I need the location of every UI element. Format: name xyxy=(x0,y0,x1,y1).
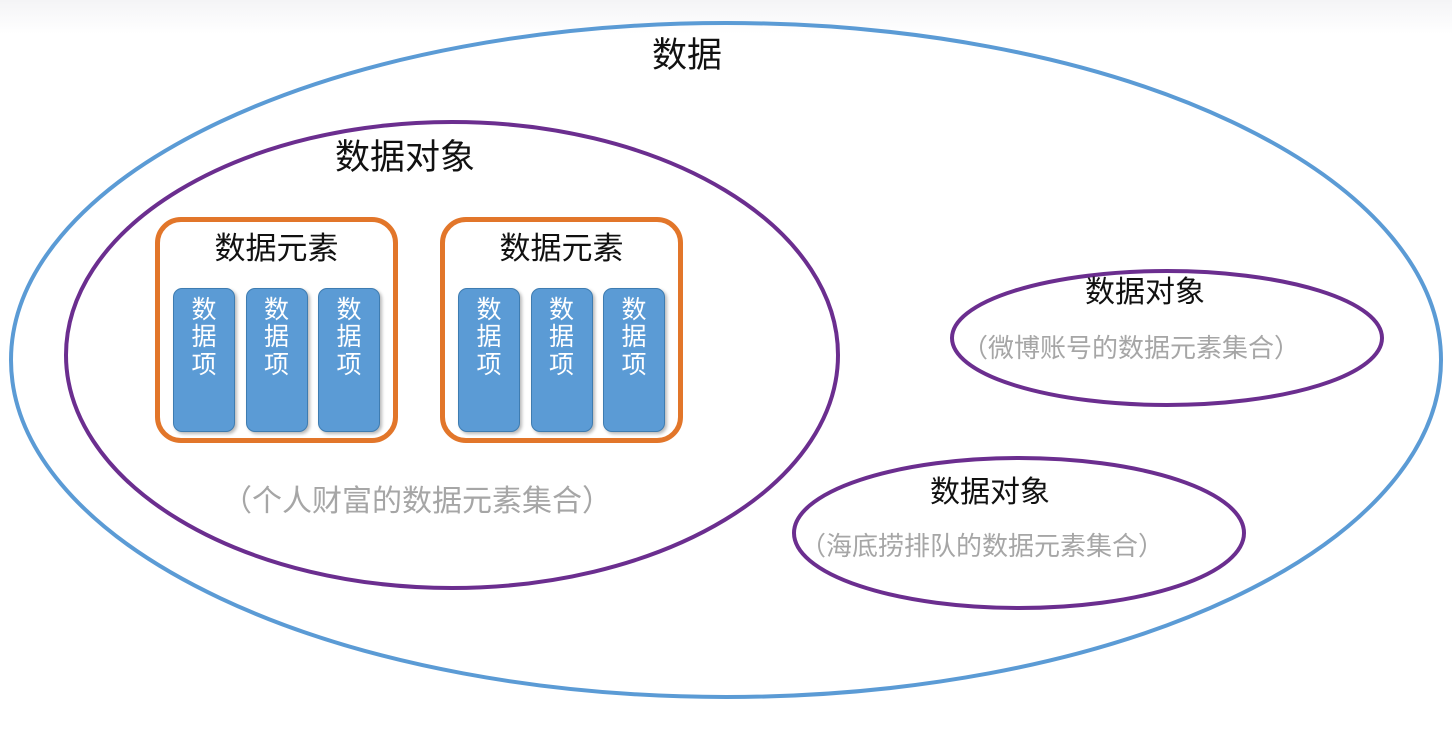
data-item-char: 数 xyxy=(174,297,234,324)
data-item-char: 据 xyxy=(319,324,379,351)
outer-ellipse-label: 数据 xyxy=(652,38,722,73)
data-item-char: 项 xyxy=(174,352,234,379)
data-object-sublabel-weibo: （微博账号的数据元素集合） xyxy=(962,336,1300,362)
data-object-label-weibo: 数据对象 xyxy=(1085,278,1205,308)
data-item-2-1: 数 据 项 xyxy=(458,288,520,432)
data-item-2-2: 数 据 项 xyxy=(531,288,593,432)
data-item-char: 项 xyxy=(532,352,592,379)
data-item-row-1: 数 据 项 数 据 项 数 据 项 xyxy=(173,288,380,432)
data-item-char: 据 xyxy=(459,324,519,351)
data-item-1-1: 数 据 项 xyxy=(173,288,235,432)
data-item-char: 据 xyxy=(247,324,307,351)
data-item-char: 项 xyxy=(319,352,379,379)
data-item-char: 数 xyxy=(247,297,307,324)
data-element-label-1: 数据元素 xyxy=(160,232,393,266)
data-item-char: 数 xyxy=(459,297,519,324)
data-object-label-personal-wealth: 数据对象 xyxy=(335,140,475,175)
diagram-canvas: 数据 数据对象 （个人财富的数据元素集合） 数据元素 数 据 项 数 据 项 数… xyxy=(0,0,1452,733)
data-item-row-2: 数 据 项 数 据 项 数 据 项 xyxy=(458,288,665,432)
data-item-char: 数 xyxy=(604,297,664,324)
data-object-sublabel-haidilao: （海底捞排队的数据元素集合） xyxy=(800,534,1164,560)
data-item-1-3: 数 据 项 xyxy=(318,288,380,432)
data-item-char: 数 xyxy=(532,297,592,324)
data-item-char: 项 xyxy=(247,352,307,379)
data-element-box-2: 数据元素 数 据 项 数 据 项 数 据 项 xyxy=(440,217,683,443)
data-item-char: 数 xyxy=(319,297,379,324)
data-item-char: 据 xyxy=(604,324,664,351)
data-item-char: 项 xyxy=(604,352,664,379)
data-object-sublabel-personal-wealth: （个人财富的数据元素集合） xyxy=(222,487,612,517)
data-element-label-2: 数据元素 xyxy=(445,232,678,266)
data-item-char: 据 xyxy=(174,324,234,351)
data-element-box-1: 数据元素 数 据 项 数 据 项 数 据 项 xyxy=(155,217,398,443)
data-item-char: 据 xyxy=(532,324,592,351)
data-object-label-haidilao: 数据对象 xyxy=(930,478,1050,508)
data-item-2-3: 数 据 项 xyxy=(603,288,665,432)
data-item-1-2: 数 据 项 xyxy=(246,288,308,432)
data-item-char: 项 xyxy=(459,352,519,379)
